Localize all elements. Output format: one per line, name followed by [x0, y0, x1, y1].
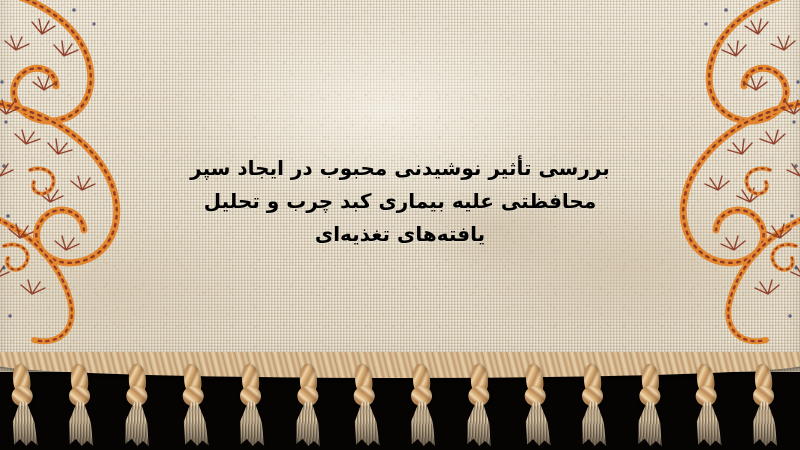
tassel: [405, 362, 439, 448]
knotted-tassel-fringe: [0, 362, 800, 450]
tassel-skirt: [292, 401, 324, 446]
tassel-skirt: [749, 402, 779, 446]
tassel: [518, 361, 555, 448]
tassel-skirt: [578, 402, 608, 446]
tassel: [689, 361, 726, 448]
tassel-skirt: [463, 401, 495, 446]
tassel: [5, 361, 42, 448]
tassel: [119, 361, 156, 448]
tassel-skirt: [350, 401, 382, 446]
tassel: [347, 361, 384, 448]
title-card-canvas: بررسی تأثیر نوشیدنی محبوب در ایجاد سپر م…: [0, 0, 800, 450]
tassel: [176, 361, 213, 448]
tassel-skirt: [634, 401, 666, 446]
title-line-1: بررسی تأثیر نوشیدنی محبوب در ایجاد سپر: [160, 152, 640, 185]
title-line-2: محافظتی علیه بیماری کبد چرب و تحلیل: [160, 185, 640, 218]
tassel-skirt: [179, 401, 211, 446]
tassel-skirt: [8, 401, 40, 446]
title-line-3: یافته‌های تغذیه‌ای: [160, 218, 640, 251]
tassel-skirt: [121, 401, 153, 446]
tassel: [576, 362, 610, 448]
tassel-skirt: [65, 402, 95, 446]
page-title: بررسی تأثیر نوشیدنی محبوب در ایجاد سپر م…: [160, 152, 640, 251]
tassel: [632, 361, 669, 448]
tassel: [234, 362, 268, 448]
tassel-skirt: [407, 402, 437, 446]
tassel: [461, 361, 498, 448]
tassel: [290, 361, 327, 448]
tassel: [63, 362, 97, 448]
tassel-skirt: [521, 401, 553, 446]
tassel: [747, 362, 781, 448]
tassel-skirt: [692, 401, 724, 446]
tassel-skirt: [236, 402, 266, 446]
